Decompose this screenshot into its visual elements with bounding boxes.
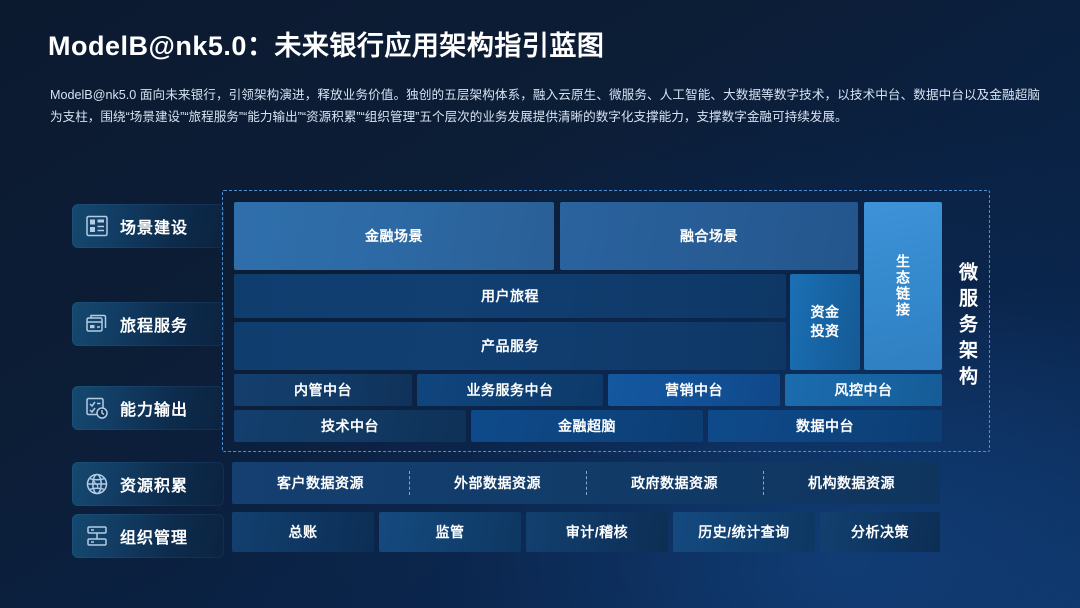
org-box-analysis-decision[interactable]: 分析决策 xyxy=(820,512,940,552)
capability-box-risk-control[interactable]: 风控中台 xyxy=(785,374,942,406)
org-box-general-ledger[interactable]: 总账 xyxy=(232,512,374,552)
sidebar-item-scene-building[interactable]: 场景建设 xyxy=(72,204,224,248)
sidebar-item-label: 资源积累 xyxy=(120,472,188,496)
layer-sidebar: 场景建设 旅程服务 能力输出 xyxy=(72,190,224,558)
microservice-architecture-label: 微服务架构 xyxy=(944,216,980,438)
sidebar-item-journey-service[interactable]: 旅程服务 xyxy=(72,302,224,346)
eco-link-box[interactable]: 生态链接 xyxy=(864,202,942,370)
sidebar-item-label: 组织管理 xyxy=(120,524,188,548)
journey-box-product-service[interactable]: 产品服务 xyxy=(234,322,786,370)
org-box-regulation[interactable]: 监管 xyxy=(379,512,521,552)
capability-box-business-service[interactable]: 业务服务中台 xyxy=(417,374,603,406)
card-stack-icon xyxy=(84,311,110,337)
checklist-clock-icon xyxy=(84,395,110,421)
scene-box-integrated[interactable]: 融合场景 xyxy=(560,202,858,270)
resource-segment-government[interactable]: 政府数据资源 xyxy=(586,462,763,504)
capability-box-data-platform[interactable]: 数据中台 xyxy=(708,410,942,442)
resource-segment-customer[interactable]: 客户数据资源 xyxy=(232,462,409,504)
sidebar-item-resource-accumulation[interactable]: 资源积累 xyxy=(72,462,224,506)
journey-box-user-journey[interactable]: 用户旅程 xyxy=(234,274,786,318)
fund-investment-label: 资金投资 xyxy=(809,303,841,341)
sidebar-item-capability-output[interactable]: 能力输出 xyxy=(72,386,224,430)
globe-icon xyxy=(84,471,110,497)
sidebar-item-label: 旅程服务 xyxy=(120,312,188,336)
capability-box-tech-platform[interactable]: 技术中台 xyxy=(234,410,466,442)
resource-layer-bar: 客户数据资源 外部数据资源 政府数据资源 机构数据资源 xyxy=(232,462,940,504)
sidebar-item-label: 场景建设 xyxy=(120,214,188,238)
capability-box-internal-mgmt[interactable]: 内管中台 xyxy=(234,374,412,406)
sidebar-item-label: 能力输出 xyxy=(120,396,188,420)
org-structure-icon xyxy=(84,523,110,549)
resource-segment-institution[interactable]: 机构数据资源 xyxy=(763,462,940,504)
scene-box-financial[interactable]: 金融场景 xyxy=(234,202,554,270)
fund-investment-box[interactable]: 资金投资 xyxy=(790,274,860,370)
resource-segment-external[interactable]: 外部数据资源 xyxy=(409,462,586,504)
org-box-history-query[interactable]: 历史/统计查询 xyxy=(673,512,815,552)
page-description: ModelB@nk5.0 面向未来银行，引领架构演进，释放业务价值。独创的五层架… xyxy=(50,84,1040,128)
page-title: ModelB@nk5.0：未来银行应用架构指引蓝图 xyxy=(48,24,604,63)
sidebar-item-organization-management[interactable]: 组织管理 xyxy=(72,514,224,558)
org-box-audit[interactable]: 审计/稽核 xyxy=(526,512,668,552)
capability-box-marketing[interactable]: 营销中台 xyxy=(608,374,780,406)
capability-box-financial-brain[interactable]: 金融超脑 xyxy=(471,410,703,442)
layout-grid-icon xyxy=(84,213,110,239)
